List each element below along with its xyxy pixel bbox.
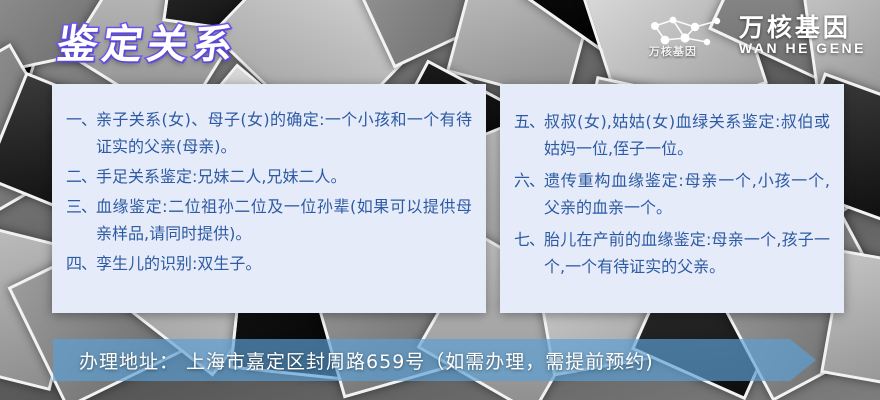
list-item-text: 孪生儿的识别:双生子。 [96, 250, 472, 277]
list-item-number: 六、 [514, 167, 544, 194]
list-item: 六、 遗传重构血缘鉴定:母亲一个,小孩一个,父亲的血亲一个。 [514, 167, 830, 221]
address-ribbon: 办理地址： 上海市嘉定区封周路659号（如需办理，需提前预约) [53, 339, 816, 381]
list-item-text: 手足关系鉴定:兄妹二人,兄妹二人。 [96, 163, 472, 190]
service-list-panel-right: 五、 叔叔(女),姑姑(女)血绿关系鉴定:叔伯或姑妈一位,侄子一位。 六、 遗传… [500, 84, 844, 313]
list-item-number: 二、 [66, 163, 96, 190]
list-item-number: 七、 [514, 226, 544, 253]
list-item-text: 叔叔(女),姑姑(女)血绿关系鉴定:叔伯或姑妈一位,侄子一位。 [544, 108, 830, 162]
list-item-number: 一、 [66, 106, 96, 133]
brand-name-en: WAN HE GENE [739, 41, 866, 56]
service-list-panel-left: 一、 亲子关系(女)、母子(女)的确定:一个小孩和一个有待证实的父亲(母亲)。 … [52, 84, 486, 313]
list-item: 一、 亲子关系(女)、母子(女)的确定:一个小孩和一个有待证实的父亲(母亲)。 [66, 106, 472, 160]
list-item: 七、 胎儿在产前的血缘鉴定:母亲一个,孩子一个,一个有待证实的父亲。 [514, 226, 830, 280]
page-title: 鉴定关系 [54, 12, 242, 70]
brand-text: 万核基因 WAN HE GENE [739, 15, 866, 56]
list-item-number: 五、 [514, 108, 544, 135]
brand-logo: 万核基因 万核基因 WAN HE GENE [643, 12, 866, 58]
brand-name-cn: 万核基因 [739, 15, 866, 41]
address-text: 办理地址： 上海市嘉定区封周路659号（如需办理，需提前预约) [79, 339, 654, 381]
list-item-text: 血缘鉴定:二位祖孙二位及一位孙辈(如果可以提供母亲样品,请同时提供)。 [96, 193, 472, 247]
list-item-text: 遗传重构血缘鉴定:母亲一个,小孩一个,父亲的血亲一个。 [544, 167, 830, 221]
list-item: 四、 孪生儿的识别:双生子。 [66, 250, 472, 277]
molecule-network-icon: 万核基因 [643, 12, 731, 58]
list-item: 三、 血缘鉴定:二位祖孙二位及一位孙辈(如果可以提供母亲样品,请同时提供)。 [66, 193, 472, 247]
list-item-text: 亲子关系(女)、母子(女)的确定:一个小孩和一个有待证实的父亲(母亲)。 [96, 106, 472, 160]
list-item: 五、 叔叔(女),姑姑(女)血绿关系鉴定:叔伯或姑妈一位,侄子一位。 [514, 108, 830, 162]
list-item-number: 三、 [66, 193, 96, 220]
logo-mark-label: 万核基因 [649, 43, 697, 59]
poster-canvas: 鉴定关系 [0, 0, 880, 400]
list-item: 二、 手足关系鉴定:兄妹二人,兄妹二人。 [66, 163, 472, 190]
list-item-number: 四、 [66, 250, 96, 277]
list-item-text: 胎儿在产前的血缘鉴定:母亲一个,孩子一个,一个有待证实的父亲。 [544, 226, 830, 280]
